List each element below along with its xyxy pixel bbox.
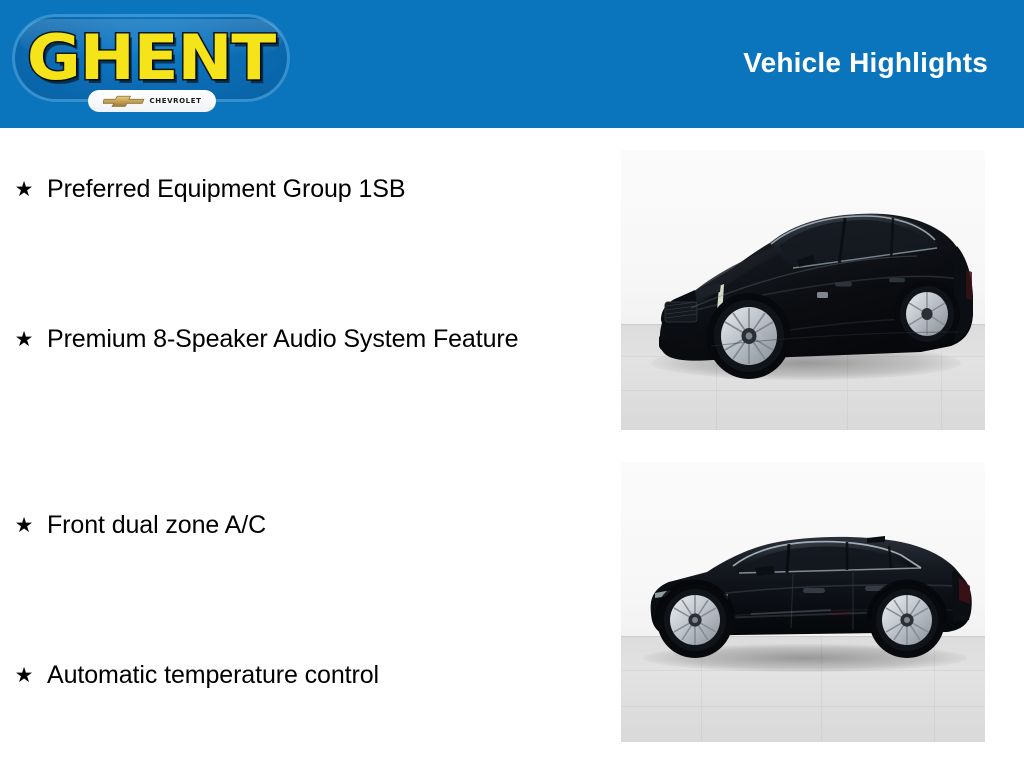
list-item-label: Front dual zone A/C	[47, 508, 574, 542]
list-item-label: Premium 8-Speaker Audio System Feature	[47, 322, 574, 356]
list-item: ★ Front dual zone A/C	[14, 508, 574, 542]
list-item: ★ Premium 8-Speaker Audio System Feature	[14, 322, 574, 356]
star-bullet-icon: ★	[14, 508, 34, 542]
vehicle-photo-front-three-quarter[interactable]	[621, 150, 985, 430]
list-item: ★ Automatic temperature control	[14, 658, 574, 692]
chevrolet-badge: CHEVROLET	[88, 90, 216, 112]
star-bullet-icon: ★	[14, 322, 34, 356]
vehicle-highlights-list: ★ Preferred Equipment Group 1SB ★ Premiu…	[0, 128, 600, 768]
list-item-label: Automatic temperature control	[47, 658, 574, 692]
dealer-logo[interactable]: GHENT CHEVROLET	[12, 14, 290, 118]
list-item: ★ Preferred Equipment Group 1SB	[14, 172, 574, 206]
star-bullet-icon: ★	[14, 658, 34, 692]
car-illustration-side-profile	[621, 462, 985, 742]
vehicle-photo-side-profile[interactable]	[621, 462, 985, 742]
page-header: GHENT CHEVROLET Vehicle Highlights	[0, 0, 1024, 128]
car-illustration-front-quarter	[621, 150, 985, 430]
chevrolet-badge-label: CHEVROLET	[150, 97, 202, 105]
dealer-logo-text: GHENT	[4, 14, 299, 102]
star-bullet-icon: ★	[14, 172, 34, 206]
front-wheel	[707, 293, 791, 379]
vehicle-photo-gallery	[621, 128, 985, 768]
list-item-label: Preferred Equipment Group 1SB	[47, 172, 574, 206]
rear-wheel	[894, 280, 960, 348]
page-title: Vehicle Highlights	[743, 47, 988, 79]
chevrolet-bowtie-icon	[103, 94, 145, 108]
page-content: ★ Preferred Equipment Group 1SB ★ Premiu…	[0, 128, 1024, 768]
